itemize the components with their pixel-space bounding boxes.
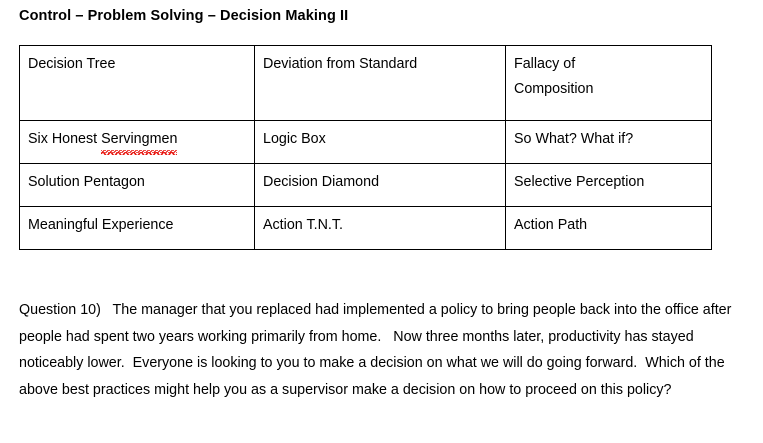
cell-label-line1: Fallacy of: [514, 56, 575, 72]
cell-label: So What? What if?: [514, 131, 633, 147]
best-practices-table: Decision Tree Deviation from Standard Fa…: [19, 45, 712, 250]
question-paragraph: Question 10) The manager that you replac…: [19, 297, 737, 403]
cell-label: Meaningful Experience: [28, 217, 173, 233]
table-cell-meaningful-experience: Meaningful Experience: [20, 207, 255, 250]
table-cell-action-tnt: Action T.N.T.: [255, 207, 506, 250]
table-cell-action-path: Action Path: [506, 207, 712, 250]
cell-label-misspelled: Servingmen: [101, 131, 177, 147]
cell-label-prefix: Six Honest: [28, 131, 101, 147]
document-page: Control – Problem Solving – Decision Mak…: [0, 0, 763, 443]
table-cell-six-honest-servingmen: Six Honest Servingmen: [20, 121, 255, 164]
cell-label: Decision Tree: [28, 56, 115, 72]
table-cell-selective-perception: Selective Perception: [506, 164, 712, 207]
cell-label: Action T.N.T.: [263, 217, 343, 233]
cell-label: Logic Box: [263, 131, 326, 147]
table-cell-logic-box: Logic Box: [255, 121, 506, 164]
page-title: Control – Problem Solving – Decision Mak…: [19, 6, 348, 26]
table-cell-solution-pentagon: Solution Pentagon: [20, 164, 255, 207]
table-row: Meaningful Experience Action T.N.T. Acti…: [20, 207, 712, 250]
table-cell-deviation-from-standard: Deviation from Standard: [255, 46, 506, 121]
cell-label: Selective Perception: [514, 174, 644, 190]
cell-label-line2: Composition: [514, 81, 593, 97]
table-cell-so-what-what-if: So What? What if?: [506, 121, 712, 164]
cell-label: Solution Pentagon: [28, 174, 145, 190]
table-cell-decision-tree: Decision Tree: [20, 46, 255, 121]
table-cell-decision-diamond: Decision Diamond: [255, 164, 506, 207]
table-row: Six Honest Servingmen Logic Box So What?…: [20, 121, 712, 164]
table-row: Solution Pentagon Decision Diamond Selec…: [20, 164, 712, 207]
spellcheck-squiggle-icon: [101, 151, 177, 155]
cell-label: Decision Diamond: [263, 174, 379, 190]
cell-label: Deviation from Standard: [263, 56, 417, 72]
spellcheck-misspelled-word: Servingmen: [101, 127, 177, 152]
table-row: Decision Tree Deviation from Standard Fa…: [20, 46, 712, 121]
cell-label: Action Path: [514, 217, 587, 233]
table-cell-fallacy-of-composition: Fallacy of Composition: [506, 46, 712, 121]
